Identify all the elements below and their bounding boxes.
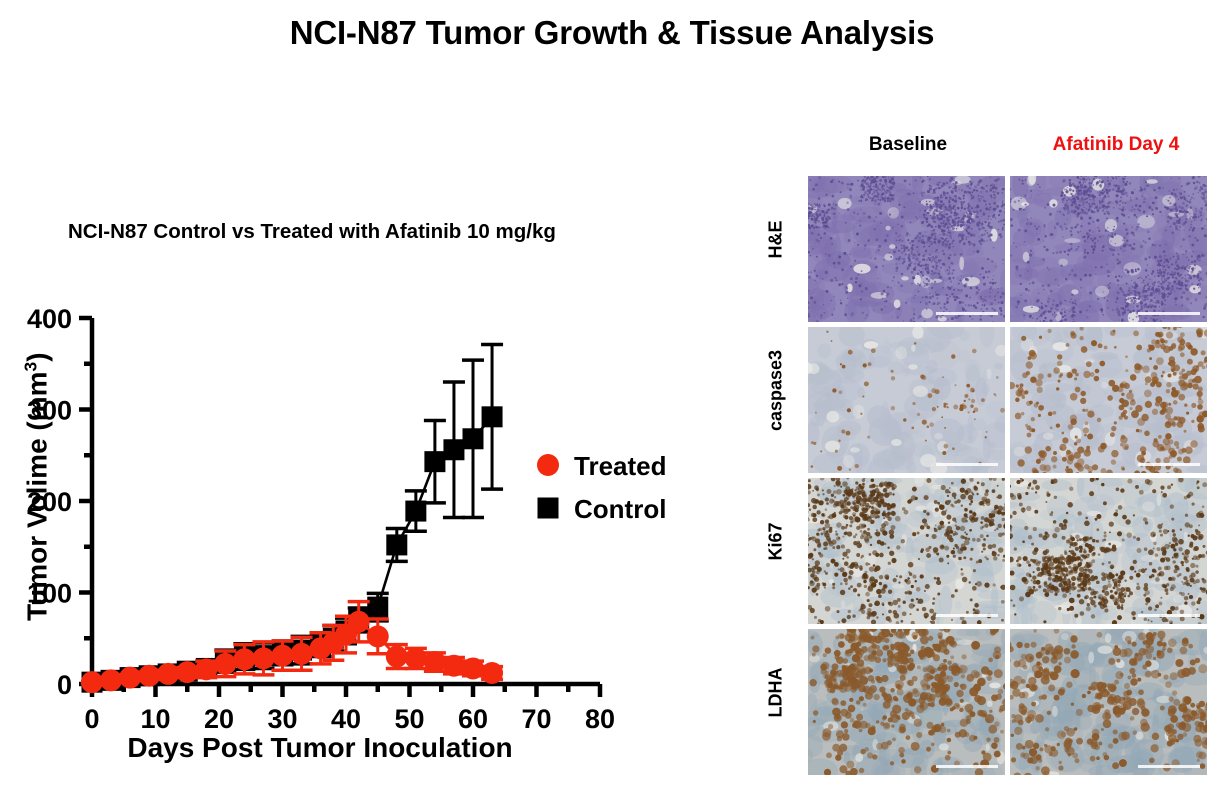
y-axis-tick-label: 0	[57, 670, 72, 700]
x-axis-tick-label: 10	[140, 704, 170, 734]
histology-row-label: caspase3	[766, 331, 787, 451]
histology-tile-caspase3-baseline[interactable]	[808, 327, 1005, 473]
x-axis-tick-label: 60	[458, 704, 488, 734]
histology-tile-ki67-afatinib-day-4[interactable]	[1010, 478, 1207, 624]
x-axis-tick-label: 50	[394, 704, 424, 734]
y-axis-tick-label: 300	[27, 396, 72, 426]
histology-tile-h-e-baseline[interactable]	[808, 176, 1005, 322]
y-axis-tick-label: 200	[27, 487, 72, 517]
x-axis-tick-label: 20	[204, 704, 234, 734]
histology-row-ki67: Ki67	[745, 478, 1224, 624]
legend-item-control: Control	[538, 494, 667, 524]
histology-tile-ki67-baseline[interactable]	[808, 478, 1005, 624]
x-axis-tick-label: 30	[267, 704, 297, 734]
x-axis-tick-label: 40	[331, 704, 361, 734]
histology-column-headers: Baseline Afatinib Day 4	[808, 128, 1224, 170]
histology-tile-ldha-baseline[interactable]	[808, 629, 1005, 775]
y-axis-tick-label: 400	[27, 304, 72, 334]
histology-tile-h-e-afatinib-day-4[interactable]	[1010, 176, 1207, 322]
page-title: NCI-N87 Tumor Growth & Tissue Analysis	[0, 14, 1224, 52]
x-axis-tick-label: 70	[521, 704, 551, 734]
legend-marker-square	[538, 498, 559, 519]
scale-bar	[1138, 614, 1200, 617]
legend-label: Treated	[574, 451, 667, 481]
error-bars	[81, 345, 503, 684]
chart-svg: 010020030040001020304050607080 TreatedCo…	[0, 170, 700, 780]
x-axis-tick-label: 80	[585, 704, 615, 734]
legend-label: Control	[574, 494, 666, 524]
histology-row-caspase3: caspase3	[745, 327, 1224, 473]
histology-image-grid: H&Ecaspase3Ki67LDHA	[745, 176, 1224, 780]
chart-axes: 010020030040001020304050607080	[27, 304, 615, 734]
legend-item-treated: Treated	[537, 451, 667, 481]
scale-bar	[936, 312, 998, 315]
scale-bar	[1138, 765, 1200, 768]
tumor-growth-chart: NCI-N87 Control vs Treated with Afatinib…	[0, 170, 700, 780]
legend-marker-circle	[537, 454, 559, 476]
x-axis-tick-label: 0	[84, 704, 99, 734]
histology-row-label: H&E	[766, 180, 787, 300]
histology-column-header-baseline: Baseline	[808, 134, 1008, 156]
histology-tile-ldha-afatinib-day-4[interactable]	[1010, 629, 1207, 775]
chart-plot-area: 010020030040001020304050607080 TreatedCo…	[0, 170, 700, 780]
y-axis-tick-label: 100	[27, 579, 72, 609]
chart-legend: TreatedControl	[537, 451, 667, 524]
scale-bar	[936, 463, 998, 466]
scale-bar	[936, 614, 998, 617]
chart-series	[81, 345, 503, 694]
histology-row-ldha: LDHA	[745, 629, 1224, 775]
scale-bar	[1138, 463, 1200, 466]
histology-tile-caspase3-afatinib-day-4[interactable]	[1010, 327, 1207, 473]
histology-panel: Baseline Afatinib Day 4 H&Ecaspase3Ki67L…	[745, 128, 1224, 780]
histology-row-label: Ki67	[766, 482, 787, 602]
histology-row-h-e: H&E	[745, 176, 1224, 322]
histology-row-label: LDHA	[766, 633, 787, 753]
histology-column-header-afatinib-day4: Afatinib Day 4	[1016, 134, 1216, 156]
scale-bar	[936, 765, 998, 768]
scale-bar	[1138, 312, 1200, 315]
